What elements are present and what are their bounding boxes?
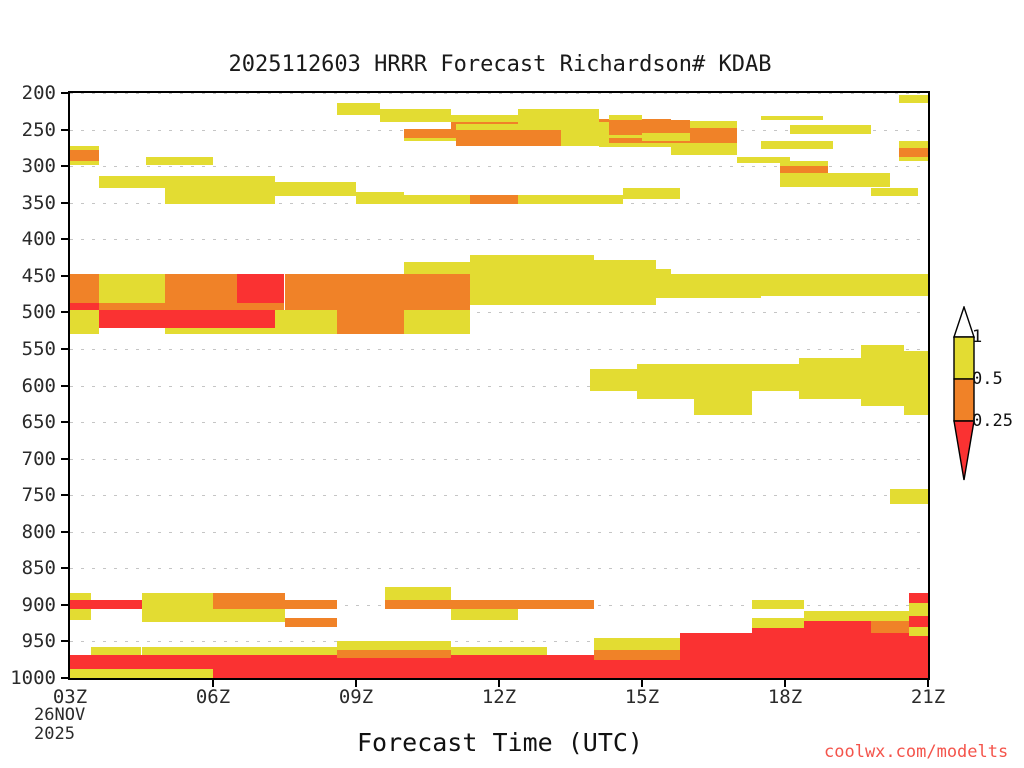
watermark: coolwx.com/modelts bbox=[824, 742, 1008, 762]
heatmap-cell bbox=[780, 166, 828, 173]
heatmap-cell bbox=[456, 130, 561, 146]
y-tick-mark-650 bbox=[61, 421, 68, 423]
heatmap-cell bbox=[275, 310, 337, 334]
gridline-850 bbox=[70, 568, 928, 569]
heatmap-cell bbox=[890, 489, 928, 504]
gridline-650 bbox=[70, 422, 928, 423]
y-tick-label-850: 850 bbox=[22, 557, 56, 579]
heatmap-cell bbox=[275, 182, 356, 196]
y-tick-mark-250 bbox=[61, 129, 68, 131]
x-tick-mark-21Z bbox=[927, 680, 929, 687]
y-tick-mark-350 bbox=[61, 202, 68, 204]
heatmap-cell bbox=[871, 621, 909, 633]
heatmap-cell bbox=[733, 364, 800, 391]
y-tick-mark-450 bbox=[61, 275, 68, 277]
heatmap-cell bbox=[899, 95, 928, 102]
heatmap-cell bbox=[237, 274, 285, 303]
chart-page: 2025112603 HRRR Forecast Richardson# KDA… bbox=[0, 0, 1024, 768]
heatmap-cell bbox=[561, 132, 609, 146]
heatmap-cell bbox=[871, 633, 909, 660]
plot-area bbox=[68, 91, 930, 680]
heatmap-cell bbox=[637, 364, 732, 391]
x-tick-mark-09Z bbox=[355, 680, 357, 687]
heatmap-cell bbox=[909, 603, 928, 615]
x-tick-mark-15Z bbox=[641, 680, 643, 687]
heatmap-cell bbox=[356, 192, 404, 204]
y-tick-mark-900 bbox=[61, 604, 68, 606]
heatmap-cell bbox=[909, 636, 928, 660]
heatmap-cell bbox=[337, 310, 404, 334]
y-tick-mark-600 bbox=[61, 385, 68, 387]
heatmap-cell bbox=[70, 150, 99, 161]
heatmap-cell bbox=[99, 310, 213, 328]
colorbar-band-2 bbox=[954, 379, 974, 421]
heatmap-cell bbox=[142, 647, 214, 654]
colorbar-label-0.25: 0.25 bbox=[972, 411, 1013, 431]
x-tick-label-12Z: 12Z bbox=[482, 686, 516, 708]
gridline-400 bbox=[70, 239, 928, 240]
heatmap-cell bbox=[91, 647, 141, 654]
x-tick-label-09Z: 09Z bbox=[339, 686, 373, 708]
heatmap-cell bbox=[451, 647, 546, 654]
y-tick-mark-1000 bbox=[61, 677, 68, 679]
gridline-800 bbox=[70, 532, 928, 533]
y-tick-label-250: 250 bbox=[22, 119, 56, 141]
heatmap-cell bbox=[694, 391, 751, 415]
y-tick-label-600: 600 bbox=[22, 375, 56, 397]
heatmap-cell bbox=[470, 255, 594, 274]
y-tick-label-350: 350 bbox=[22, 192, 56, 214]
y-tick-mark-400 bbox=[61, 238, 68, 240]
gridline-200 bbox=[70, 93, 928, 94]
colorbar-under-arrow bbox=[954, 421, 974, 480]
heatmap-cell bbox=[599, 143, 671, 147]
heatmap-cell bbox=[594, 638, 680, 650]
y-tick-label-750: 750 bbox=[22, 484, 56, 506]
heatmap-cell bbox=[594, 260, 656, 305]
x-tick-mark-12Z bbox=[498, 680, 500, 687]
heatmap-cell bbox=[404, 129, 456, 139]
heatmap-cell bbox=[404, 274, 471, 311]
heatmap-cell bbox=[871, 611, 909, 621]
heatmap-cell bbox=[609, 120, 690, 133]
y-tick-label-900: 900 bbox=[22, 594, 56, 616]
heatmap-cell bbox=[142, 600, 214, 609]
heatmap-cell bbox=[285, 600, 337, 609]
heatmap-cell bbox=[237, 303, 285, 310]
heatmap-cell bbox=[146, 157, 213, 165]
heatmap-cell bbox=[99, 303, 166, 310]
heatmap-cell bbox=[285, 274, 404, 311]
y-tick-mark-800 bbox=[61, 531, 68, 533]
heatmap-cell bbox=[804, 611, 871, 621]
y-tick-mark-550 bbox=[61, 348, 68, 350]
y-tick-label-200: 200 bbox=[22, 82, 56, 104]
heatmap-cell bbox=[899, 141, 928, 148]
y-tick-label-400: 400 bbox=[22, 228, 56, 250]
heatmap-cell bbox=[561, 122, 609, 132]
heatmap-cell bbox=[165, 188, 275, 204]
heatmap-cell bbox=[70, 161, 99, 165]
heatmap-cell bbox=[165, 328, 237, 334]
heatmap-cell bbox=[70, 303, 99, 310]
heatmap-cell bbox=[285, 618, 337, 627]
y-tick-mark-300 bbox=[61, 165, 68, 167]
heatmap-cell bbox=[142, 593, 214, 600]
y-tick-mark-950 bbox=[61, 640, 68, 642]
colorbar-label-1: 1 bbox=[972, 327, 982, 347]
heatmap-cell bbox=[404, 138, 456, 140]
heatmap-cell bbox=[404, 195, 471, 204]
heatmap-cell bbox=[518, 195, 623, 204]
heatmap-cell bbox=[337, 650, 451, 657]
heatmap-cell bbox=[909, 616, 928, 627]
heatmap-cell bbox=[213, 647, 337, 654]
gridline-550 bbox=[70, 349, 928, 350]
heatmap-cell bbox=[623, 188, 680, 199]
heatmap-cell bbox=[165, 274, 237, 311]
y-tick-mark-750 bbox=[61, 494, 68, 496]
chart-title: 2025112603 HRRR Forecast Richardson# KDA… bbox=[0, 52, 1000, 77]
heatmap-cell bbox=[404, 262, 471, 274]
heatmap-cell bbox=[451, 609, 518, 620]
heatmap-cell bbox=[99, 274, 166, 303]
heatmap-cell bbox=[637, 391, 694, 399]
heatmap-cell bbox=[671, 143, 738, 155]
heatmap-cell bbox=[470, 195, 518, 204]
y-tick-label-700: 700 bbox=[22, 448, 56, 470]
heatmap-cell bbox=[142, 609, 214, 623]
heatmap-cell bbox=[385, 600, 452, 609]
y-tick-label-950: 950 bbox=[22, 630, 56, 652]
heatmap-cell bbox=[804, 621, 871, 660]
y-tick-mark-700 bbox=[61, 458, 68, 460]
heatmap-cell bbox=[385, 587, 452, 600]
heatmap-cell bbox=[99, 176, 166, 188]
heatmap-cell bbox=[899, 148, 928, 157]
heatmap-cell bbox=[871, 188, 919, 196]
heatmap-cell bbox=[790, 125, 871, 134]
y-tick-label-300: 300 bbox=[22, 155, 56, 177]
y-tick-mark-850 bbox=[61, 567, 68, 569]
heatmap-cell bbox=[752, 600, 804, 609]
heatmap-cell bbox=[404, 310, 471, 334]
y-tick-label-550: 550 bbox=[22, 338, 56, 360]
heatmap-cell bbox=[799, 391, 861, 399]
gridline-750 bbox=[70, 495, 928, 496]
heatmap-cell bbox=[752, 628, 804, 659]
heatmap-cell bbox=[861, 391, 928, 406]
heatmap-cell bbox=[70, 669, 213, 680]
y-tick-label-800: 800 bbox=[22, 521, 56, 543]
heatmap-cell bbox=[861, 345, 904, 390]
heatmap-cell bbox=[213, 669, 928, 680]
heatmap-cell bbox=[909, 627, 928, 636]
heatmap-cell bbox=[213, 310, 275, 328]
heatmap-cell bbox=[70, 310, 99, 334]
y-tick-label-450: 450 bbox=[22, 265, 56, 287]
heatmap-cell bbox=[70, 609, 91, 620]
colorbar-label-0.5: 0.5 bbox=[972, 369, 1003, 389]
heatmap-cell bbox=[799, 358, 861, 391]
y-tick-mark-200 bbox=[61, 92, 68, 94]
gridline-700 bbox=[70, 459, 928, 460]
x-tick-mark-06Z bbox=[212, 680, 214, 687]
heatmap-cell bbox=[899, 157, 928, 161]
heatmap-cell bbox=[70, 593, 91, 600]
heatmap-cell bbox=[642, 133, 690, 140]
heatmap-cell bbox=[70, 274, 99, 303]
x-tick-label-06Z: 06Z bbox=[196, 686, 230, 708]
heatmap-cell bbox=[451, 600, 594, 609]
heatmap-cell bbox=[380, 109, 452, 122]
gridline-1000 bbox=[70, 678, 928, 679]
heatmap-cell bbox=[833, 173, 890, 186]
x-tick-mark-18Z bbox=[784, 680, 786, 687]
heatmap-cell bbox=[680, 633, 752, 660]
x-tick-label-15Z: 15Z bbox=[625, 686, 659, 708]
y-tick-label-1000: 1000 bbox=[10, 667, 56, 689]
colorbar-over-arrow bbox=[954, 307, 974, 337]
heatmap-cell bbox=[451, 115, 518, 122]
y-tick-label-650: 650 bbox=[22, 411, 56, 433]
heatmap-cell bbox=[213, 609, 285, 623]
colorbar-legend: 1 0.5 0.25 bbox=[938, 306, 1022, 481]
heatmap-cell bbox=[337, 641, 451, 650]
heatmap-cell bbox=[213, 600, 285, 609]
colorbar-band-1 bbox=[954, 337, 974, 379]
heatmap-cell bbox=[656, 274, 928, 297]
heatmap-cell bbox=[470, 274, 594, 305]
x-tick-label-21Z: 21Z bbox=[911, 686, 945, 708]
heatmap-cell bbox=[752, 618, 804, 628]
y-tick-mark-500 bbox=[61, 311, 68, 313]
heatmap-canvas bbox=[70, 93, 928, 678]
heatmap-cell bbox=[213, 593, 285, 600]
heatmap-cell bbox=[337, 103, 380, 115]
heatmap-cell bbox=[70, 600, 142, 609]
heatmap-cell bbox=[909, 593, 928, 603]
heatmap-cell bbox=[761, 116, 823, 120]
heatmap-cell bbox=[590, 369, 638, 390]
heatmap-cell bbox=[594, 650, 680, 660]
y-tick-label-500: 500 bbox=[22, 301, 56, 323]
heatmap-cell bbox=[761, 141, 833, 149]
x-tick-label-18Z: 18Z bbox=[768, 686, 802, 708]
